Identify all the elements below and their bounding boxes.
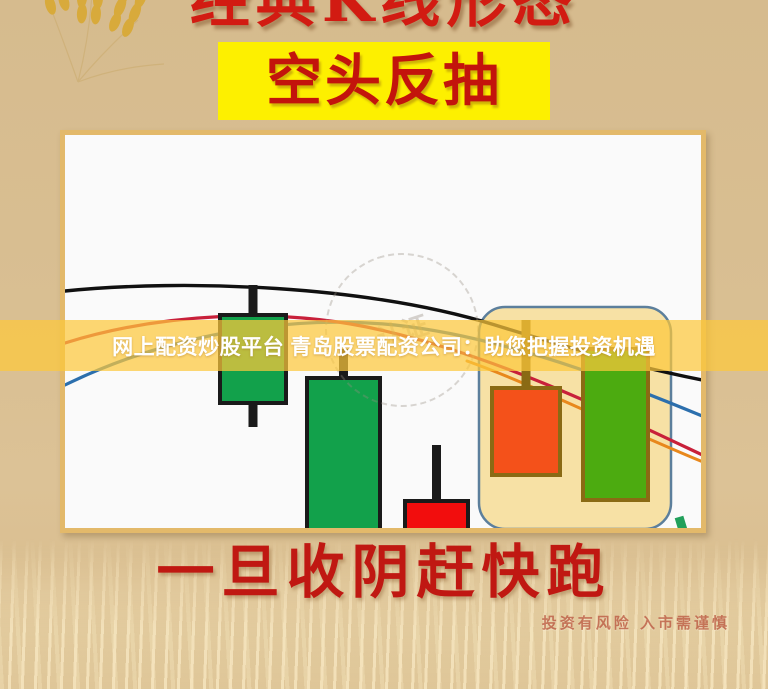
subtitle-banner: 空头反抽 [218, 42, 550, 120]
promo-banner-text: 网上配资炒股平台 青岛股票配资公司：助您把握投资机遇 [112, 331, 656, 361]
promo-banner[interactable]: 网上配资炒股平台 青岛股票配资公司：助您把握投资机遇 [0, 320, 768, 371]
bottom-slogan: 一旦收阴赶快跑 [0, 536, 768, 608]
poster-headline: 经典K线形态 [0, 0, 768, 36]
risk-disclaimer: 投资有风险 入市需谨慎 [542, 612, 730, 633]
subtitle-text: 空头反抽 [266, 53, 502, 109]
poster-background: 经典K线形态 空头反抽 认证 网 [0, 0, 768, 689]
arrow-shaft [679, 517, 706, 533]
